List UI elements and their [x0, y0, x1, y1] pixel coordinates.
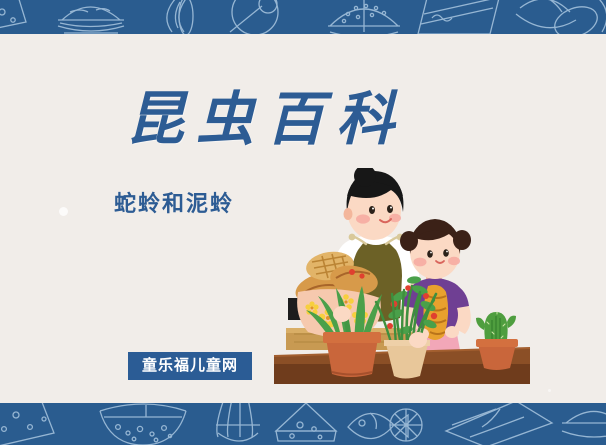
lemon-slice-icon: [390, 409, 422, 441]
deco-dot-right: [548, 389, 551, 392]
two-children-gardening-illustration: [268, 168, 536, 393]
woman-hand-right: [409, 332, 427, 348]
woman-hand: [333, 306, 351, 322]
food-pattern-banner-bottom: [0, 403, 606, 445]
slide-canvas: 昆虫百科 蛇蛉和泥蛉 童乐福儿童网: [0, 0, 606, 445]
page-title: 昆虫百科: [126, 72, 406, 156]
page-subtitle: 蛇蛉和泥蛉: [114, 186, 234, 218]
site-name-badge[interactable]: 童乐福儿童网: [128, 352, 252, 380]
food-pattern-banner-top: [0, 0, 606, 34]
deco-dot-left: [59, 207, 68, 216]
